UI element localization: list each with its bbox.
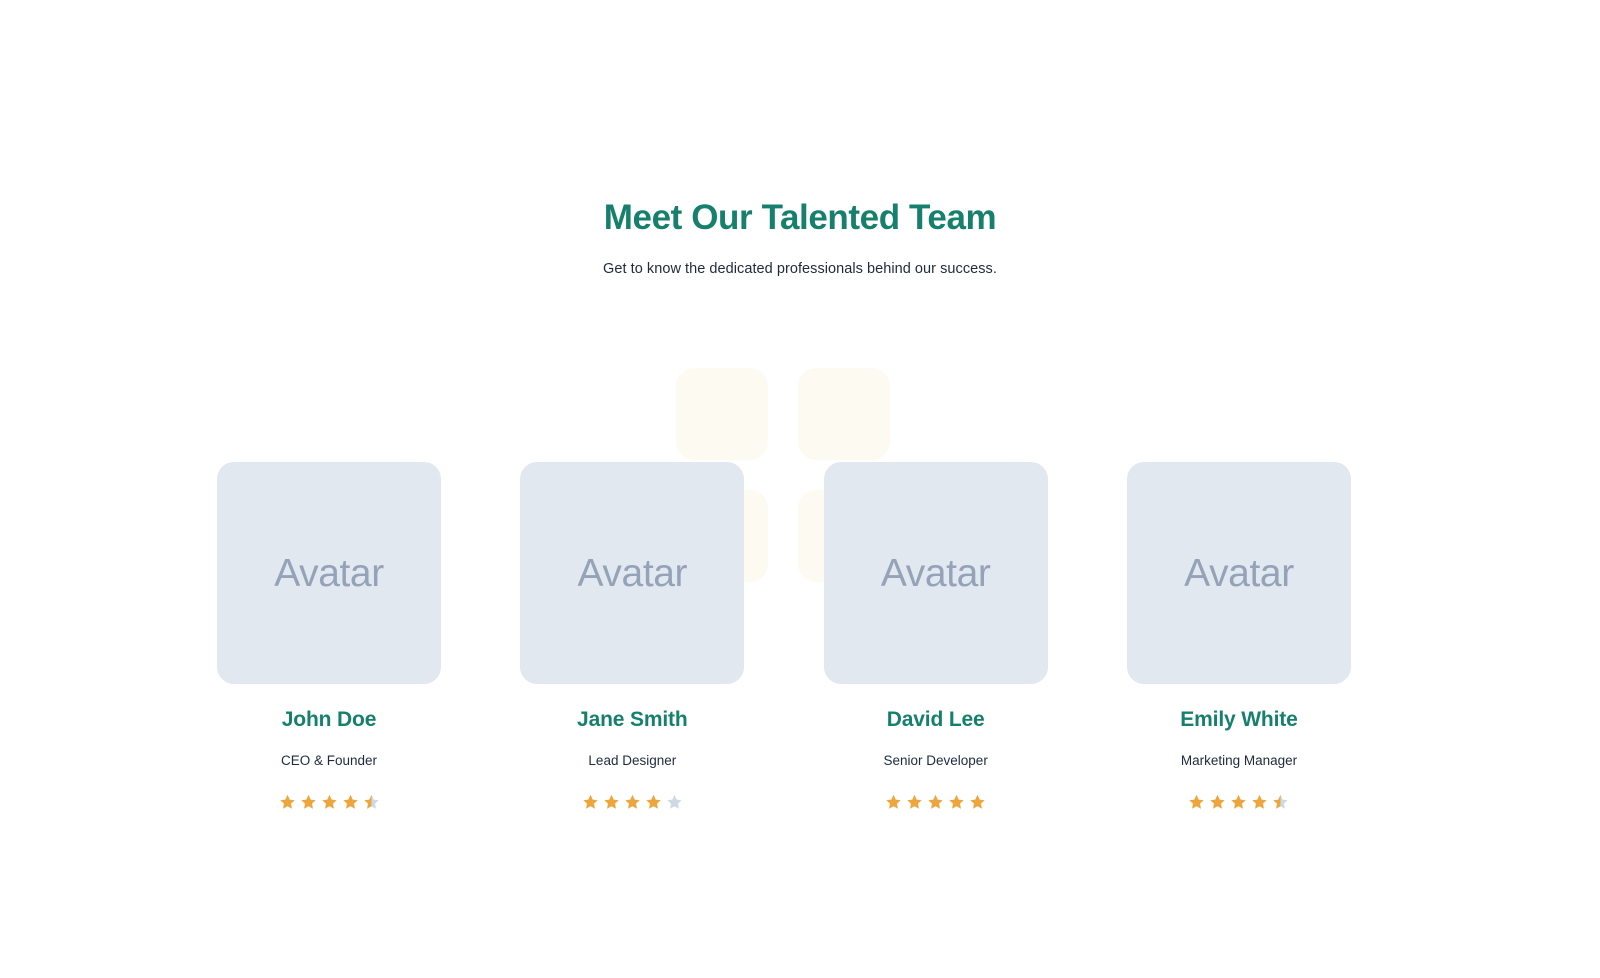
page-subtitle: Get to know the dedicated professionals … (0, 259, 1600, 279)
avatar-placeholder-label: Avatar (881, 554, 991, 593)
member-role: Lead Designer (588, 752, 676, 770)
star-filled-icon (884, 793, 903, 811)
team-member-grid: Avatar John Doe CEO & Founder Avatar Jan… (217, 462, 1351, 811)
star-empty-icon (665, 793, 684, 811)
page-title: Meet Our Talented Team (0, 196, 1600, 240)
star-filled-icon (623, 793, 642, 811)
avatar: Avatar (520, 462, 744, 684)
star-filled-icon (299, 793, 318, 811)
member-name: Jane Smith (577, 707, 688, 733)
star-filled-icon (341, 793, 360, 811)
star-filled-icon (1187, 793, 1206, 811)
avatar-placeholder-label: Avatar (578, 554, 688, 593)
star-filled-icon (1229, 793, 1248, 811)
section-header: Meet Our Talented Team Get to know the d… (0, 0, 1600, 279)
rating-stars (884, 793, 987, 811)
avatar-placeholder-label: Avatar (1184, 554, 1294, 593)
star-filled-icon (278, 793, 297, 811)
star-filled-icon (926, 793, 945, 811)
avatar: Avatar (217, 462, 441, 684)
team-member-card[interactable]: Avatar Jane Smith Lead Designer (520, 462, 744, 811)
avatar-placeholder-label: Avatar (274, 554, 384, 593)
star-filled-icon (644, 793, 663, 811)
star-filled-icon (320, 793, 339, 811)
star-filled-icon (602, 793, 621, 811)
rating-stars (278, 793, 381, 811)
member-role: Marketing Manager (1181, 752, 1297, 770)
member-role: Senior Developer (884, 752, 988, 770)
star-filled-icon (905, 793, 924, 811)
decor-tile-2 (798, 368, 890, 460)
team-section-page: Meet Our Talented Team Get to know the d… (0, 0, 1600, 978)
rating-stars (581, 793, 684, 811)
member-name: Emily White (1180, 707, 1297, 733)
decor-tile-1 (676, 368, 768, 460)
star-filled-icon (1250, 793, 1269, 811)
team-member-card[interactable]: Avatar John Doe CEO & Founder (217, 462, 441, 811)
star-half-icon (1271, 793, 1290, 811)
avatar: Avatar (1127, 462, 1351, 684)
member-role: CEO & Founder (281, 752, 377, 770)
rating-stars (1187, 793, 1290, 811)
team-member-card[interactable]: Avatar Emily White Marketing Manager (1127, 462, 1351, 811)
member-name: John Doe (282, 707, 376, 733)
team-member-card[interactable]: Avatar David Lee Senior Developer (824, 462, 1048, 811)
star-filled-icon (947, 793, 966, 811)
star-filled-icon (581, 793, 600, 811)
star-filled-icon (968, 793, 987, 811)
star-filled-icon (1208, 793, 1227, 811)
member-name: David Lee (887, 707, 985, 733)
avatar: Avatar (824, 462, 1048, 684)
star-half-icon (362, 793, 381, 811)
